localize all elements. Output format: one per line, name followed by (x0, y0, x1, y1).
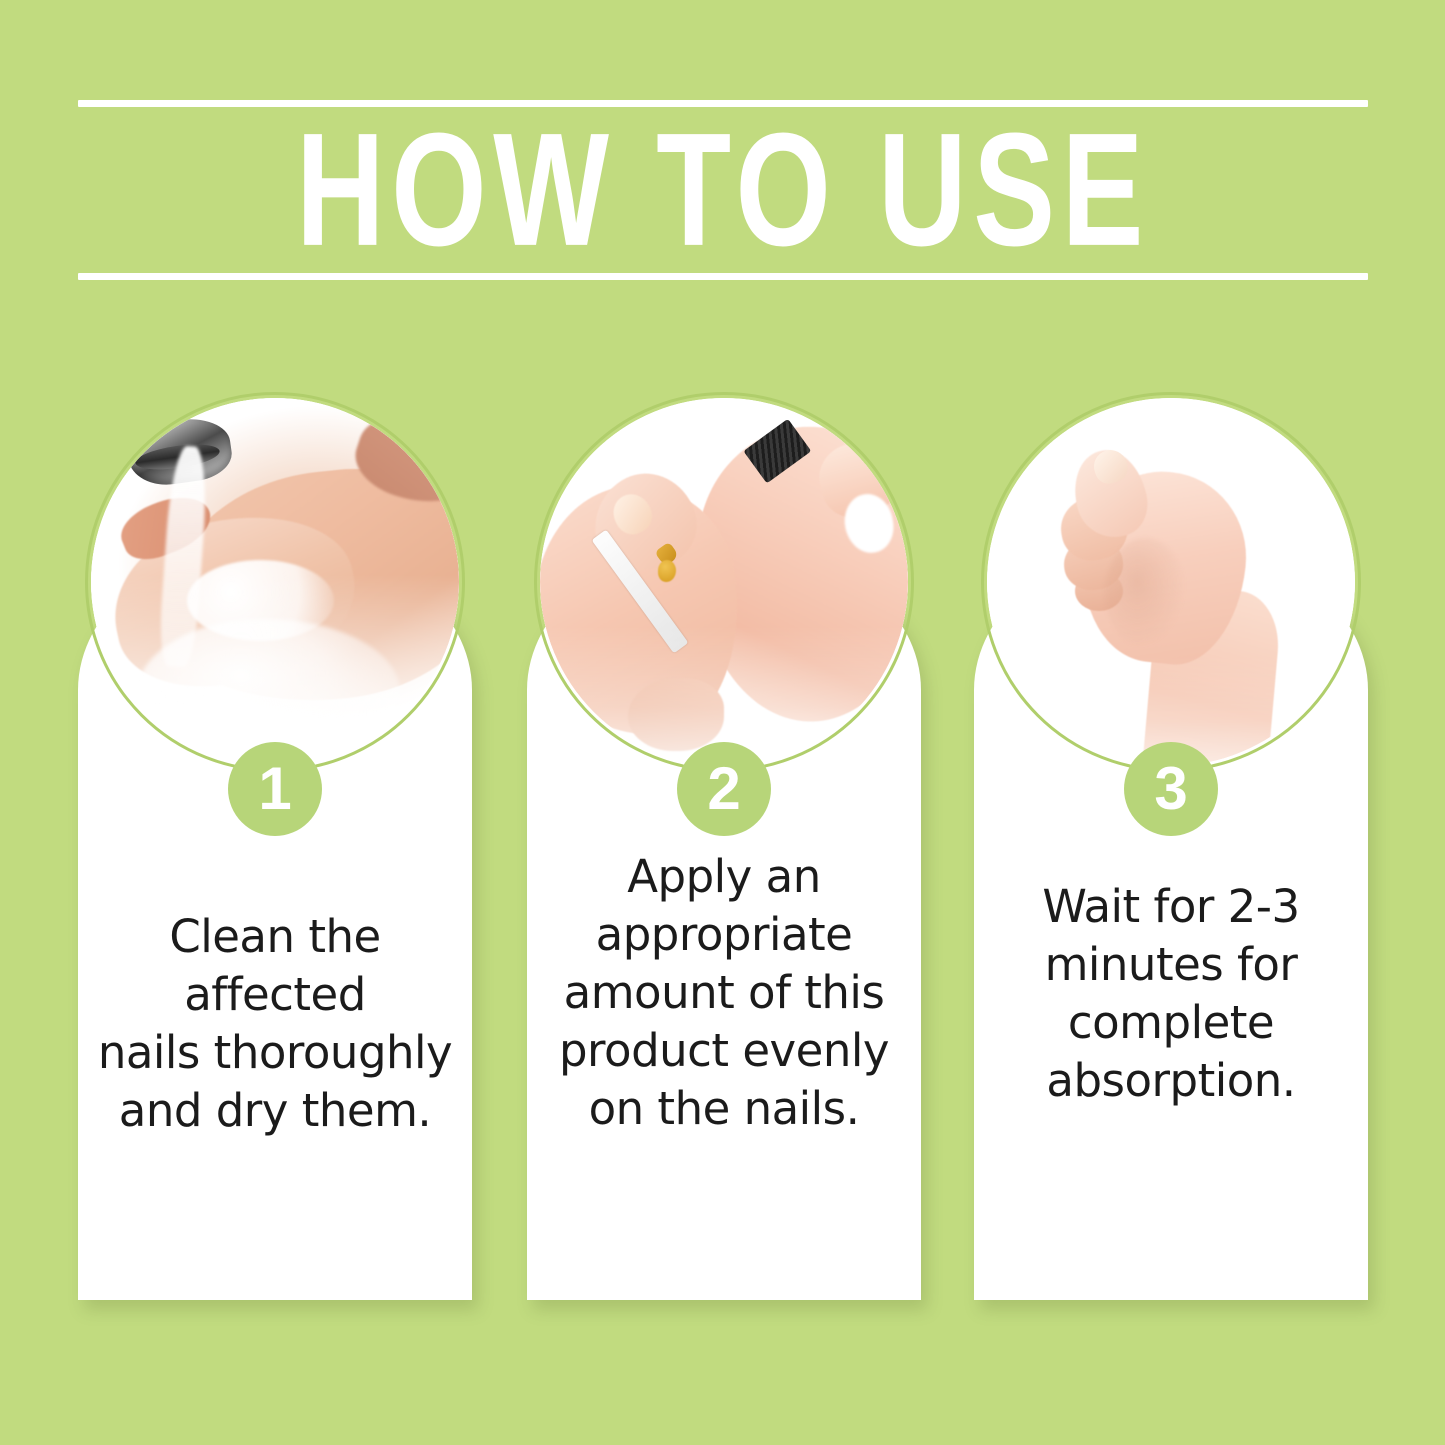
step-3-number-badge: 3 (1124, 742, 1218, 836)
step-1-photo-inner (91, 398, 459, 766)
step-1-number-badge: 1 (228, 742, 322, 836)
step-3-caption: Wait for 2-3 minutes for complete absorp… (992, 878, 1350, 1110)
step-2-photo-inner (540, 398, 908, 766)
waiting-hand-photo (987, 398, 1355, 766)
photo-bottom-fade (987, 398, 1355, 766)
step-1-caption: Clean the affected nails thoroughly and … (96, 908, 454, 1140)
step-3-photo-inner (987, 398, 1355, 766)
steps-container: 1 Clean the affected nails thoroughly an… (0, 0, 1445, 1445)
step-card-1: 1 Clean the affected nails thoroughly an… (78, 540, 472, 1300)
applying-product-photo (540, 398, 908, 766)
step-card-3: 3 Wait for 2-3 minutes for complete abso… (974, 540, 1368, 1300)
step-2-number-badge: 2 (677, 742, 771, 836)
step-2-caption: Apply an appropriate amount of this prod… (545, 848, 903, 1138)
washing-hands-photo (91, 398, 459, 766)
step-card-2: 2 Apply an appropriate amount of this pr… (527, 540, 921, 1300)
photo-bottom-fade (540, 398, 908, 766)
photo-bottom-fade (91, 398, 459, 766)
